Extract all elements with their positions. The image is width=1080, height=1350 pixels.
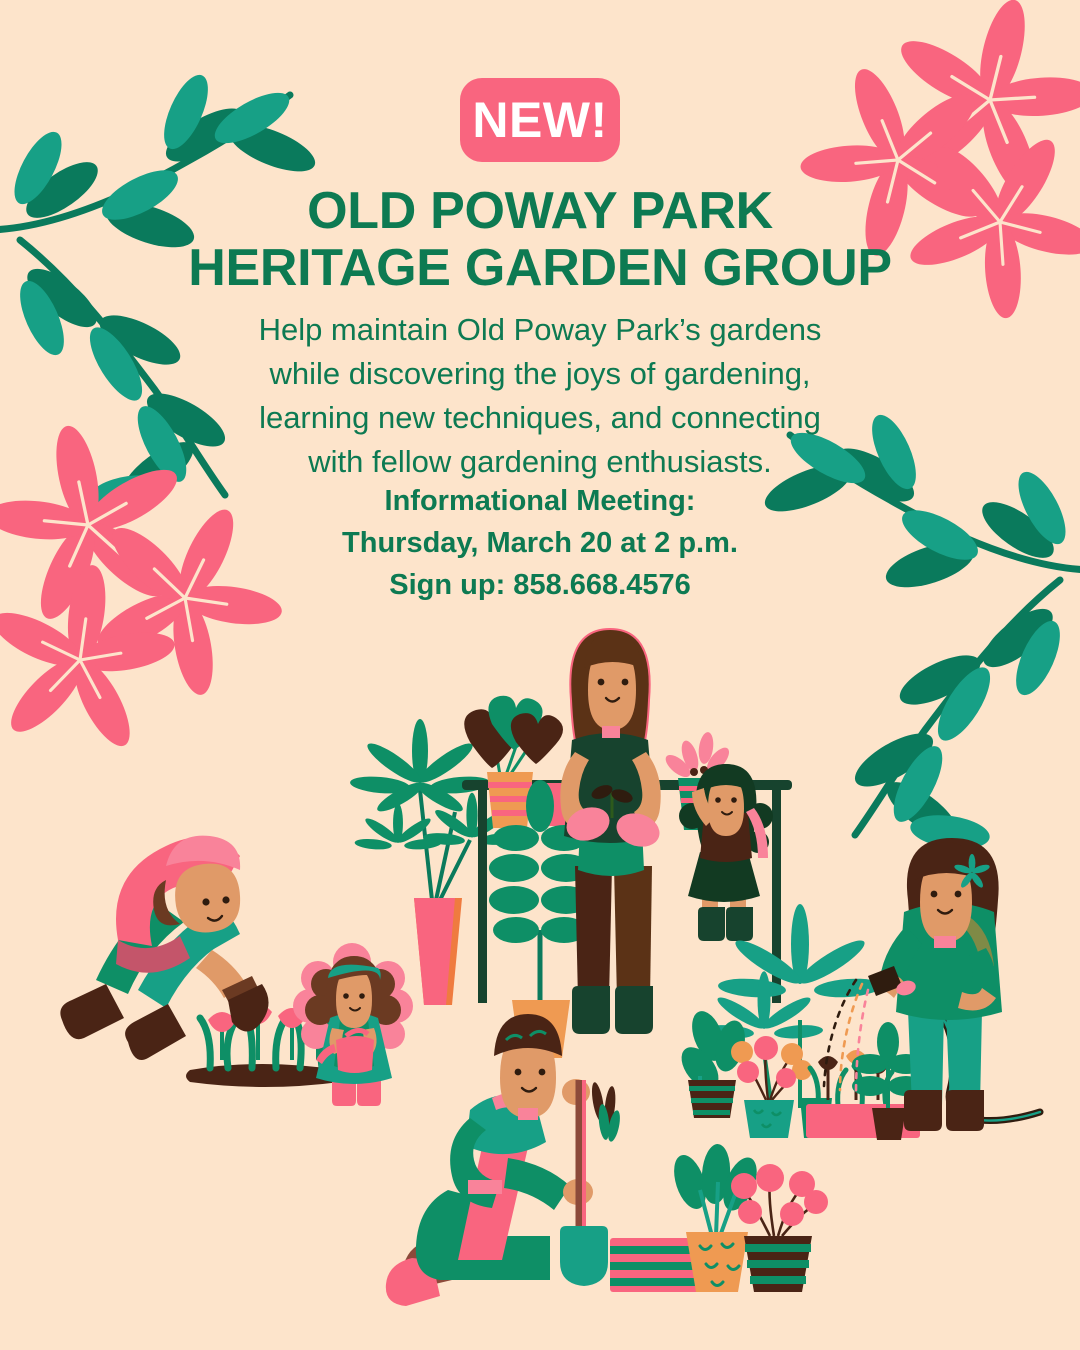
- description-line-3: learning new techniques, and connecting: [190, 396, 890, 440]
- title-line-2: HERITAGE GARDEN GROUP: [0, 240, 1080, 297]
- new-badge: NEW!: [460, 78, 620, 162]
- meeting-heading: Informational Meeting:: [190, 480, 890, 522]
- new-badge-label: NEW!: [472, 95, 607, 145]
- meeting-details: Informational Meeting: Thursday, March 2…: [190, 480, 890, 606]
- meeting-signup-phone: Sign up: 858.668.4576: [190, 564, 890, 606]
- description-line-1: Help maintain Old Poway Park’s gardens: [190, 308, 890, 352]
- meeting-datetime: Thursday, March 20 at 2 p.m.: [190, 522, 890, 564]
- title-line-1: OLD POWAY PARK: [307, 182, 773, 240]
- poster: NEW! OLD POWAY PARK HERITAGE GARDEN GROU…: [0, 0, 1080, 1350]
- description-line-2: while discovering the joys of gardening,: [190, 352, 890, 396]
- description-line-4: with fellow gardening enthusiasts.: [190, 440, 890, 484]
- description: Help maintain Old Poway Park’s gardens w…: [190, 308, 890, 484]
- page-title: OLD POWAY PARK HERITAGE GARDEN GROUP: [0, 183, 1080, 297]
